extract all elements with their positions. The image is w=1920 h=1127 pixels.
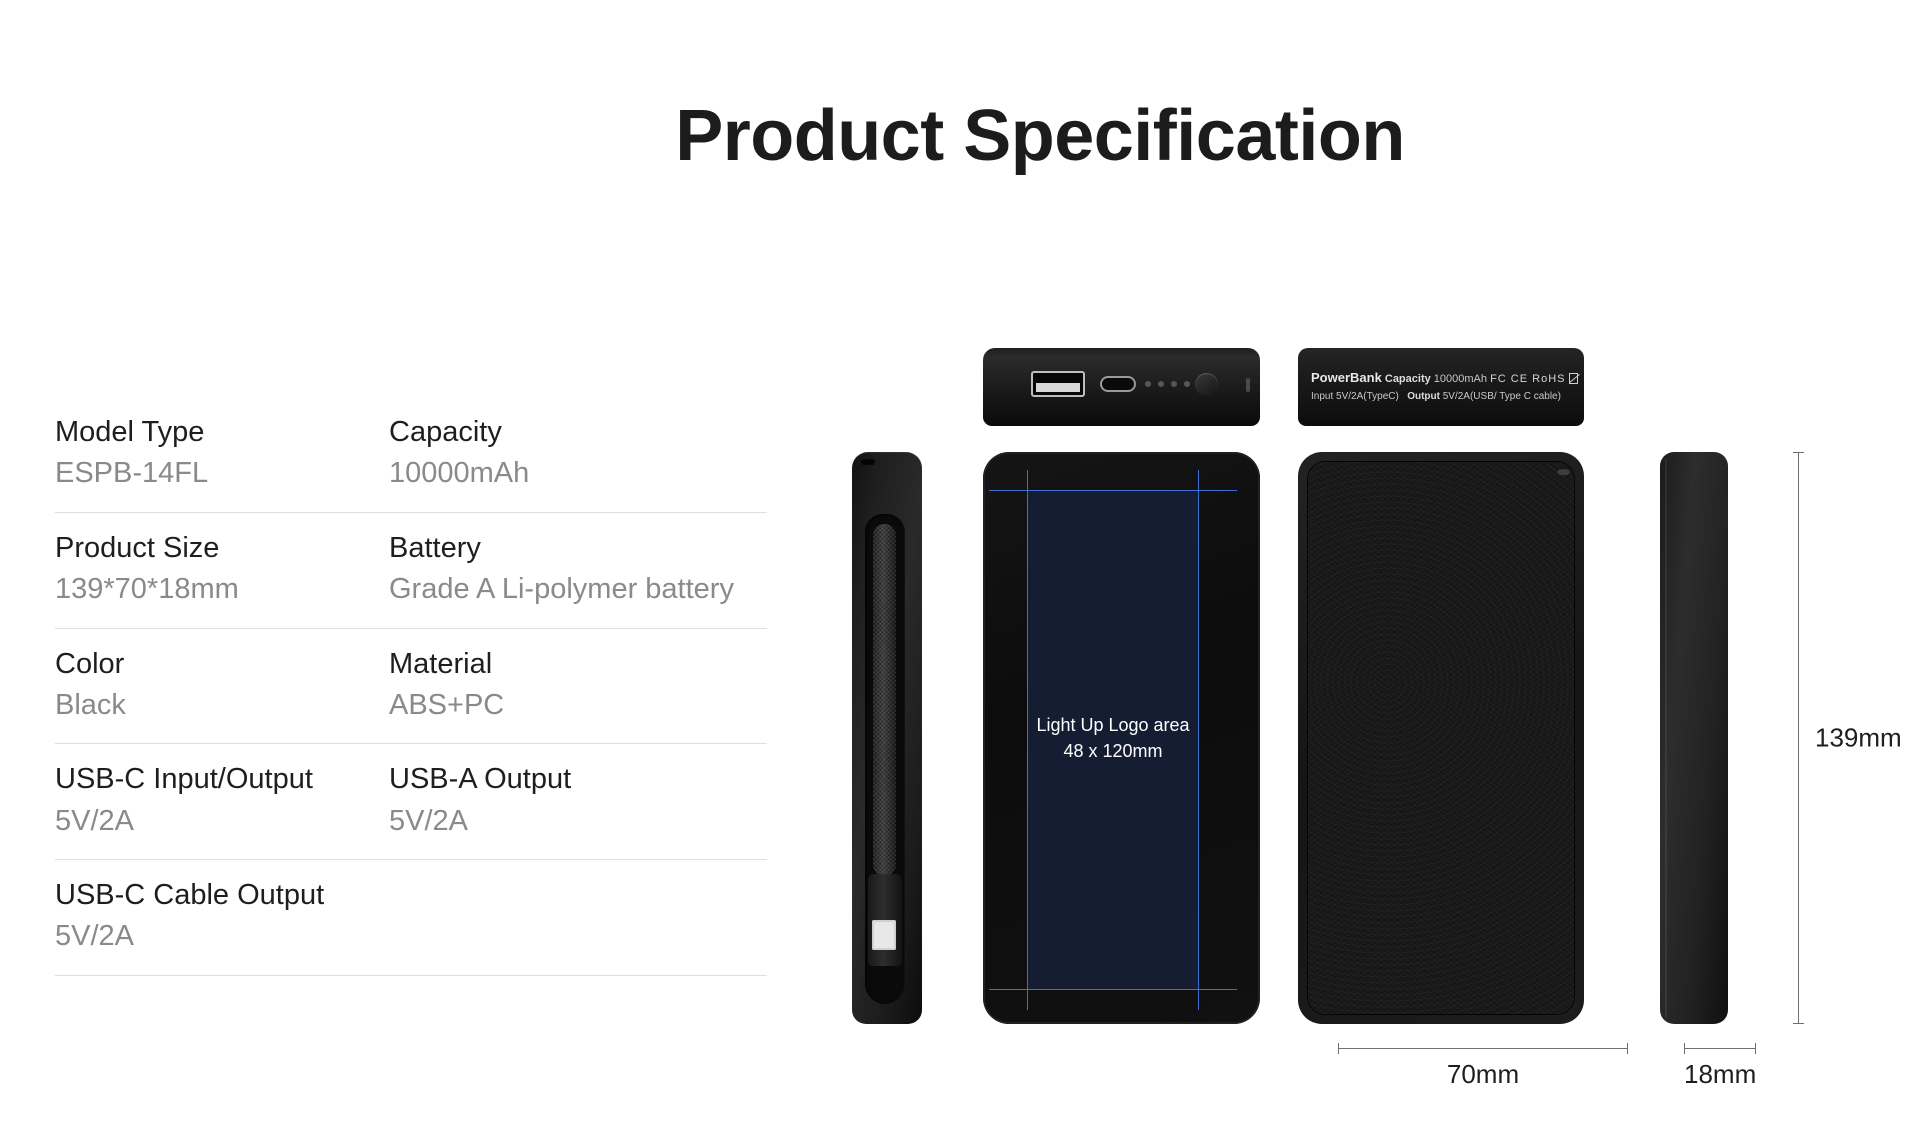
specification-table: Model Type ESPB-14FL Capacity 10000mAh P… [55, 415, 767, 976]
spec-label: Battery [389, 531, 767, 566]
spec-cell-battery: Battery Grade A Li-polymer battery [389, 531, 767, 608]
product-view-side-thin [1660, 452, 1728, 1024]
spec-cell-capacity: Capacity 10000mAh [389, 415, 767, 492]
led-indicator-icon [1184, 381, 1190, 387]
spec-cell-product-size: Product Size 139*70*18mm [55, 531, 389, 608]
spec-value: Black [55, 688, 389, 723]
dimension-tick-end [1793, 1023, 1804, 1024]
label-capacity-value: 10000mAh [1434, 373, 1487, 385]
dimension-tick-end [1627, 1043, 1628, 1054]
spec-cell-model-type: Model Type ESPB-14FL [55, 415, 389, 492]
spec-cell-color: Color Black [55, 647, 389, 724]
spec-cell-material: Material ABS+PC [389, 647, 767, 724]
spec-cell-usb-c-input-output: USB-C Input/Output 5V/2A [55, 762, 389, 839]
strap-hole-icon [1246, 378, 1250, 392]
dimension-line [1338, 1048, 1628, 1049]
dimension-depth: 18mm [1684, 1043, 1756, 1063]
power-button-icon [1195, 373, 1218, 396]
spec-label: USB-C Input/Output [55, 762, 389, 797]
label-brand: PowerBank [1311, 370, 1382, 385]
led-indicator-icon [1145, 381, 1151, 387]
spec-value: 139*70*18mm [55, 572, 389, 607]
spec-label: Material [389, 647, 767, 682]
led-indicator-icon [1171, 381, 1177, 387]
dimension-width: 70mm [1338, 1043, 1628, 1063]
spec-label: USB-C Cable Output [55, 878, 767, 913]
label-line-primary: PowerBank Capacity 10000mAh FC CE RoHS [1311, 370, 1578, 385]
label-certifications: FC CE RoHS [1490, 373, 1565, 385]
light-up-logo-area: Light Up Logo area 48 x 120mm [1027, 490, 1199, 990]
led-indicator-icon [1158, 381, 1164, 387]
spec-cell-usb-a-output: USB-A Output 5V/2A [389, 762, 767, 839]
usb-c-port-icon [1100, 376, 1136, 392]
strap-hole-icon [861, 459, 875, 465]
dimension-height: 139mm [1793, 452, 1813, 1024]
led-indicators [1145, 381, 1190, 387]
logo-area-caption: Light Up Logo area 48 x 120mm [1027, 712, 1199, 764]
dimension-tick-end [1755, 1043, 1756, 1054]
table-row: USB-C Input/Output 5V/2A USB-A Output 5V… [55, 744, 767, 860]
product-view-back-label: PowerBank Capacity 10000mAh FC CE RoHS I… [1298, 348, 1584, 426]
braided-cable-icon [873, 524, 896, 876]
dimension-depth-label: 18mm [1684, 1059, 1756, 1090]
spec-value: ABS+PC [389, 688, 767, 723]
label-input-value: 5V/2A(TypeC) [1336, 391, 1399, 402]
spec-label: Model Type [55, 415, 389, 450]
label-output-value: 5V/2A(USB/ Type C cable) [1443, 391, 1561, 402]
back-textured-panel [1307, 461, 1575, 1015]
dimension-height-label: 139mm [1815, 723, 1902, 754]
table-row: Model Type ESPB-14FL Capacity 10000mAh [55, 415, 767, 513]
spec-value: Grade A Li-polymer battery [389, 572, 767, 607]
spec-value: 5V/2A [55, 919, 767, 954]
product-view-cable-side [852, 452, 922, 1024]
spec-value: ESPB-14FL [55, 456, 389, 491]
guide-line-top [989, 490, 1237, 491]
product-view-top-ports [983, 348, 1260, 426]
product-views: Light Up Logo area 48 x 120mm PowerBank … [830, 0, 1920, 1127]
label-input-title: Input [1311, 391, 1333, 402]
strap-hole-icon [1557, 468, 1570, 475]
product-specification-page: Product Specification Model Type ESPB-14… [0, 0, 1920, 1127]
label-output-title: Output [1407, 391, 1440, 402]
spec-label: Capacity [389, 415, 767, 450]
spec-label: Product Size [55, 531, 389, 566]
label-capacity-title: Capacity [1385, 373, 1431, 385]
table-row: Product Size 139*70*18mm Battery Grade A… [55, 513, 767, 629]
spec-label: USB-A Output [389, 762, 767, 797]
spec-value: 5V/2A [55, 804, 389, 839]
table-row: USB-C Cable Output 5V/2A [55, 860, 767, 976]
guide-line-bottom [989, 989, 1237, 990]
spec-value: 5V/2A [389, 804, 767, 839]
product-view-back [1298, 452, 1584, 1024]
table-row: Color Black Material ABS+PC [55, 629, 767, 745]
product-view-front: Light Up Logo area 48 x 120mm [983, 452, 1260, 1024]
spec-value: 10000mAh [389, 456, 767, 491]
spec-cell-usb-c-cable-output: USB-C Cable Output 5V/2A [55, 878, 767, 955]
logo-area-caption-line2: 48 x 120mm [1027, 738, 1199, 764]
dimension-line [1798, 452, 1799, 1024]
cable-channel [865, 514, 905, 1004]
dimension-line [1684, 1048, 1756, 1049]
label-line-secondary: Input 5V/2A(TypeC) Output 5V/2A(USB/ Typ… [1311, 391, 1561, 402]
weee-bin-icon [1569, 373, 1578, 384]
spec-label: Color [55, 647, 389, 682]
logo-area-caption-line1: Light Up Logo area [1027, 712, 1199, 738]
dimension-width-label: 70mm [1338, 1059, 1628, 1090]
usb-a-port-icon [1031, 371, 1085, 397]
usb-connector-icon [872, 920, 896, 950]
